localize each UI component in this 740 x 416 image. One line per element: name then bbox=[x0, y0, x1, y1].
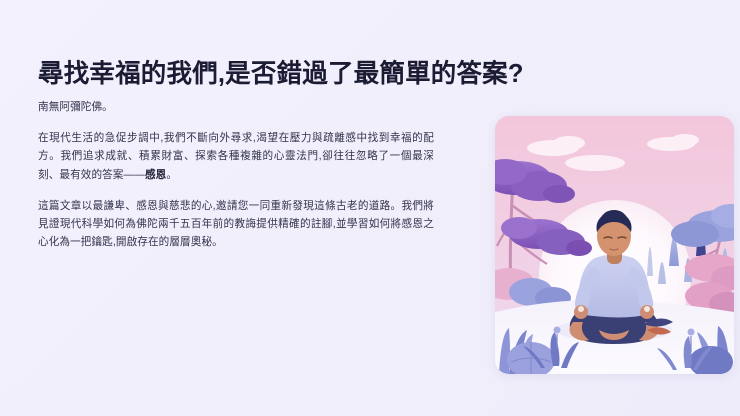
paragraph-intro: 在現代生活的急促步調中,我們不斷向外尋求,渴望在壓力與疏離感中找到幸福的配方。我… bbox=[38, 129, 434, 184]
illustration-card bbox=[495, 116, 734, 374]
paragraph-thesis: 這篇文章以最謙卑、感恩與慈悲的心,邀請您一同重新發現這條古老的道路。我們將見證現… bbox=[38, 197, 434, 252]
paragraph-intro-lead: 在現代生活的急促步調中,我們不斷向外尋求,渴望在壓力與疏離感中找到幸福的配方。我… bbox=[38, 132, 434, 180]
article-body: 南無阿彌陀佛。 在現代生活的急促步調中,我們不斷向外尋求,渴望在壓力與疏離感中找… bbox=[38, 98, 434, 252]
paragraph-invocation: 南無阿彌陀佛。 bbox=[38, 98, 434, 116]
meditation-illustration bbox=[495, 116, 734, 374]
paragraph-intro-emphasis: 感恩 bbox=[145, 169, 166, 181]
page-title: 尋找幸福的我們,是否錯過了最簡單的答案? bbox=[38, 57, 678, 91]
article-page: 尋找幸福的我們,是否錯過了最簡單的答案? 南無阿彌陀佛。 在現代生活的急促步調中… bbox=[0, 0, 740, 416]
paragraph-intro-tail: 。 bbox=[166, 169, 177, 181]
